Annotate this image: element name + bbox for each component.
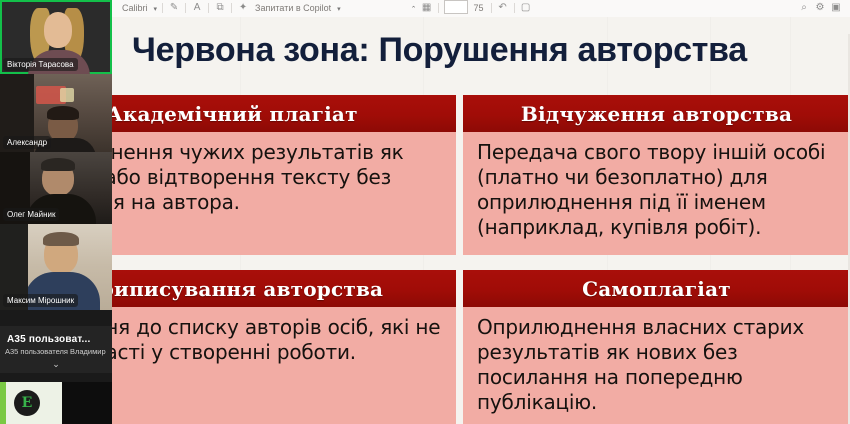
card-header: Самоплагіат [463, 270, 850, 307]
search-icon[interactable]: ⌕ [796, 0, 812, 14]
screen-capture: Calibri ▾ ✎ A ⧉ ✦ Запитати в Copilot ▾ ⌃… [0, 0, 850, 424]
toolbar-divider [185, 3, 186, 13]
card-heading-text: Академічний плагіат [106, 102, 357, 126]
zoom-input[interactable] [444, 0, 468, 14]
chevron-down-icon[interactable]: ▾ [335, 5, 343, 13]
speaking-accent-bar [0, 382, 6, 424]
avatar-shape [43, 232, 79, 246]
avatar[interactable]: Е [14, 390, 40, 416]
participant-tile[interactable]: Олег Майник [0, 152, 112, 224]
presentation-slide[interactable]: Червона зона: Порушення авторства Академ… [0, 17, 850, 424]
participant-count-subtitle: A35 пользователя Владимир [0, 345, 112, 359]
toolbar-right-group: ⌕ ⚙ ▣ [796, 0, 844, 17]
toolbar-divider [231, 3, 232, 13]
card-heading-text: Відчуження авторства [521, 102, 792, 126]
toolbar-divider [162, 3, 163, 13]
toolbar-divider [491, 3, 492, 13]
participant-name: Вікторія Тарасова [3, 58, 78, 71]
copilot-icon[interactable]: ✦ [235, 0, 251, 14]
avatar-shape [41, 158, 75, 171]
settings-icon[interactable]: ⚙ [812, 0, 828, 14]
toolbar-left-group: Calibri ▾ ✎ A ⧉ ✦ Запитати в Copilot ▾ [118, 0, 343, 17]
toolbar-divider [438, 3, 439, 13]
card-heading-text: Самоплагіат [582, 277, 731, 301]
undo-icon[interactable]: ↶ [495, 0, 511, 14]
toolbar-center-group: ⌃ ▦ 75 ↶ ▢ [409, 0, 534, 17]
toolbar-divider [514, 3, 515, 13]
font-name-field[interactable]: Calibri [118, 3, 152, 14]
avatar-initial: Е [22, 395, 33, 411]
zoom-value: 75 [470, 3, 488, 14]
participant-name: Максим Мірошник [3, 294, 78, 307]
avatar-shape [44, 12, 72, 48]
card-body-text: Передача свого твору іншій особі (платно… [463, 132, 850, 246]
image-icon[interactable]: ▦ [419, 0, 435, 14]
participant-count-title: A35 пользоват... [0, 332, 112, 345]
pointer-icon[interactable]: ⌃ [409, 5, 419, 13]
self-view-bar[interactable]: Е [0, 382, 62, 424]
chevron-down-icon[interactable]: ▾ [152, 5, 160, 13]
card-self-plagiarism: Самоплагіат Оприлюднення власних старих … [463, 270, 850, 424]
rail-bottom-filler [62, 382, 112, 424]
bookmark-icon[interactable]: ▢ [518, 0, 534, 14]
avatar-shape [47, 106, 79, 120]
present-icon[interactable]: ▣ [828, 0, 844, 14]
chevron-down-icon[interactable]: ⌄ [0, 359, 112, 373]
participant-count-card[interactable]: A35 пользоват... A35 пользователя Владим… [0, 326, 112, 373]
participant-name: Олег Майник [3, 208, 59, 221]
ask-copilot-button[interactable]: Запитати в Copilot [251, 3, 335, 14]
participant-name: Александр [3, 136, 51, 149]
participant-tile[interactable]: Александр [0, 74, 112, 152]
highlight-icon[interactable]: ✎ [166, 0, 182, 14]
card-header: Відчуження авторства [463, 95, 850, 132]
participant-tile[interactable]: Вікторія Тарасова [0, 0, 112, 74]
card-heading-text: Приписування авторства [81, 277, 383, 301]
app-toolbar: Calibri ▾ ✎ A ⧉ ✦ Запитати в Copilot ▾ ⌃… [0, 0, 850, 18]
eraser-icon[interactable]: ⧉ [212, 0, 228, 14]
slide-title: Червона зона: Порушення авторства [132, 30, 832, 70]
participant-tile[interactable]: Максим Мірошник [0, 224, 112, 310]
toolbar-divider [208, 3, 209, 13]
card-body-text: Оприлюднення власних старих результатів … [463, 307, 850, 421]
slide-card-grid: Академічний плагіат Оприлюднення чужих р… [0, 95, 850, 424]
card-authorship-alienation: Відчуження авторства Передача свого твор… [463, 95, 850, 255]
avatar-shape [60, 88, 74, 102]
text-color-icon[interactable]: A [189, 0, 205, 14]
